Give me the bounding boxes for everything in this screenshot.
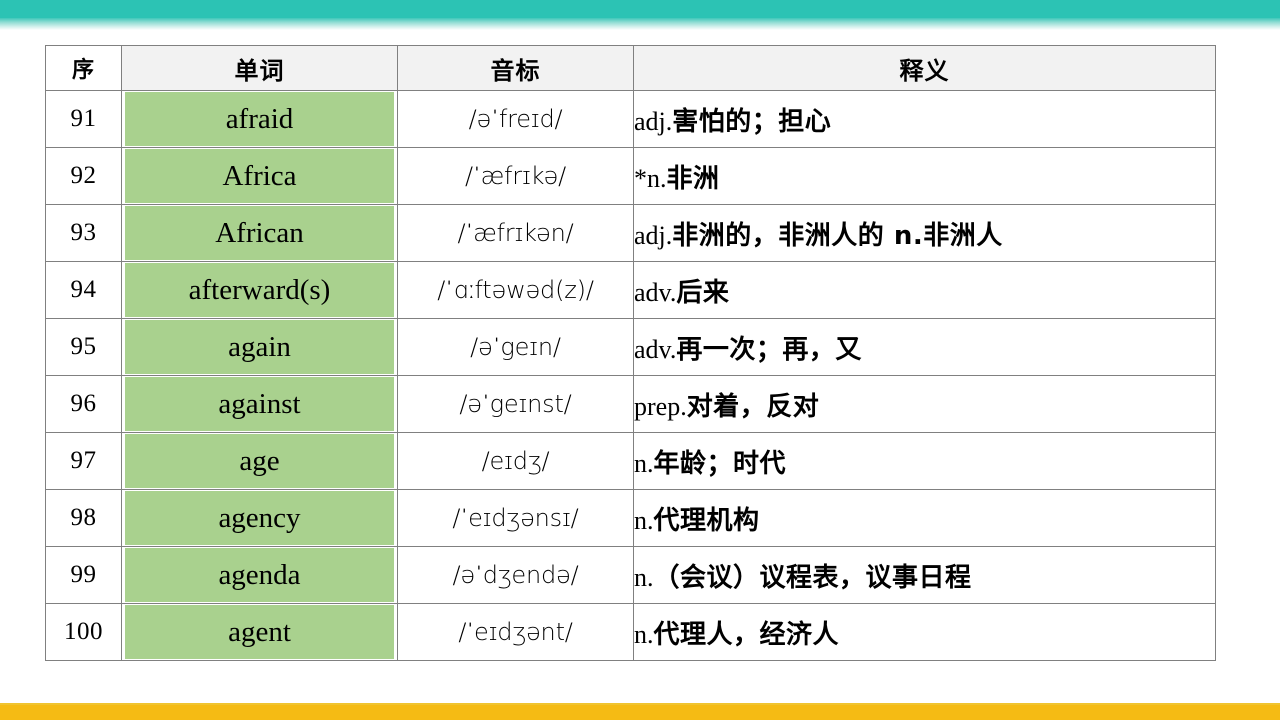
- table-row: 99agenda/əˈdʒendə/n.（会议）议程表，议事日程: [46, 547, 1216, 604]
- word-highlight: again: [125, 320, 394, 374]
- cell-word: African: [122, 205, 398, 262]
- table-row: 100agent/ˈeɪdʒənt/n.代理人，经济人: [46, 604, 1216, 661]
- cell-index: 100: [46, 604, 122, 661]
- vocabulary-table-container: 序 单词 音标 释义 91afraid/əˈfreɪd/adj.害怕的；担心92…: [45, 45, 1215, 661]
- cell-phonetic: /əˈdʒendə/: [398, 547, 634, 604]
- cell-word: agency: [122, 490, 398, 547]
- definition-text: 害怕的；担心: [672, 107, 831, 137]
- table-row: 93African/ˈæfrɪkən/adj.非洲的，非洲人的 n.非洲人: [46, 205, 1216, 262]
- cell-definition: n.年龄；时代: [634, 433, 1216, 490]
- cell-phonetic: /ˈeɪdʒənsɪ/: [398, 490, 634, 547]
- table-row: 92Africa/ˈæfrɪkə/*n.非洲: [46, 148, 1216, 205]
- part-of-speech: n.: [634, 563, 654, 592]
- part-of-speech: adj.: [634, 221, 672, 250]
- table-row: 96against/əˈgeɪnst/prep.对着，反对: [46, 376, 1216, 433]
- cell-index: 98: [46, 490, 122, 547]
- cell-definition: adj.非洲的，非洲人的 n.非洲人: [634, 205, 1216, 262]
- definition-text: 后来: [676, 278, 729, 308]
- table-row: 97age/eɪdʒ/n.年龄；时代: [46, 433, 1216, 490]
- column-header-phonetic: 音标: [398, 46, 634, 91]
- cell-word: Africa: [122, 148, 398, 205]
- definition-text: 代理机构: [654, 506, 760, 536]
- cell-phonetic: /əˈgeɪn/: [398, 319, 634, 376]
- cell-word: afraid: [122, 91, 398, 148]
- part-of-speech: n.: [634, 620, 654, 649]
- definition-text: 非洲的，非洲人的 n.非洲人: [672, 221, 1002, 251]
- part-of-speech: *n.: [634, 164, 667, 193]
- cell-definition: n.（会议）议程表，议事日程: [634, 547, 1216, 604]
- definition-text: 代理人，经济人: [654, 620, 840, 650]
- cell-index: 95: [46, 319, 122, 376]
- cell-definition: prep.对着，反对: [634, 376, 1216, 433]
- word-highlight: age: [125, 434, 394, 488]
- cell-index: 92: [46, 148, 122, 205]
- cell-definition: *n.非洲: [634, 148, 1216, 205]
- cell-index: 99: [46, 547, 122, 604]
- definition-text: 对着，反对: [687, 392, 820, 422]
- cell-definition: adv.再一次；再，又: [634, 319, 1216, 376]
- cell-phonetic: /əˈgeɪnst/: [398, 376, 634, 433]
- top-accent-bar: [0, 0, 1280, 18]
- bottom-accent-bar: [0, 705, 1280, 720]
- table-row: 98agency/ˈeɪdʒənsɪ/n.代理机构: [46, 490, 1216, 547]
- cell-definition: adv.后来: [634, 262, 1216, 319]
- cell-word: again: [122, 319, 398, 376]
- cell-definition: n.代理机构: [634, 490, 1216, 547]
- word-highlight: agent: [125, 605, 394, 659]
- word-highlight: Africa: [125, 149, 394, 203]
- definition-text: 再一次；再，又: [676, 335, 862, 365]
- part-of-speech: prep.: [634, 392, 687, 421]
- cell-phonetic: /ˈeɪdʒənt/: [398, 604, 634, 661]
- part-of-speech: adj.: [634, 107, 672, 136]
- part-of-speech: n.: [634, 449, 654, 478]
- part-of-speech: adv.: [634, 278, 676, 307]
- cell-word: age: [122, 433, 398, 490]
- cell-phonetic: /ˈæfrɪkən/: [398, 205, 634, 262]
- word-highlight: agenda: [125, 548, 394, 602]
- word-highlight: afraid: [125, 92, 394, 146]
- vocabulary-table: 序 单词 音标 释义 91afraid/əˈfreɪd/adj.害怕的；担心92…: [45, 45, 1216, 661]
- cell-word: against: [122, 376, 398, 433]
- table-row: 95again/əˈgeɪn/adv.再一次；再，又: [46, 319, 1216, 376]
- column-header-definition: 释义: [634, 46, 1216, 91]
- cell-index: 91: [46, 91, 122, 148]
- cell-phonetic: /əˈfreɪd/: [398, 91, 634, 148]
- cell-index: 97: [46, 433, 122, 490]
- cell-index: 93: [46, 205, 122, 262]
- cell-phonetic: /ˈɑːftəwəd(z)/: [398, 262, 634, 319]
- word-highlight: African: [125, 206, 394, 260]
- table-row: 91afraid/əˈfreɪd/adj.害怕的；担心: [46, 91, 1216, 148]
- column-header-word: 单词: [122, 46, 398, 91]
- cell-word: agenda: [122, 547, 398, 604]
- definition-text: 年龄；时代: [654, 449, 787, 479]
- cell-word: afterward(s): [122, 262, 398, 319]
- word-highlight: agency: [125, 491, 394, 545]
- definition-text: 非洲: [667, 164, 720, 194]
- cell-word: agent: [122, 604, 398, 661]
- top-accent-bar-fade: [0, 18, 1280, 30]
- table-header-row: 序 单词 音标 释义: [46, 46, 1216, 91]
- cell-phonetic: /eɪdʒ/: [398, 433, 634, 490]
- word-highlight: against: [125, 377, 394, 431]
- part-of-speech: adv.: [634, 335, 676, 364]
- cell-definition: n.代理人，经济人: [634, 604, 1216, 661]
- cell-index: 94: [46, 262, 122, 319]
- column-header-index: 序: [46, 46, 122, 91]
- part-of-speech: n.: [634, 506, 654, 535]
- definition-text: （会议）议程表，议事日程: [654, 563, 972, 593]
- cell-definition: adj.害怕的；担心: [634, 91, 1216, 148]
- cell-phonetic: /ˈæfrɪkə/: [398, 148, 634, 205]
- cell-index: 96: [46, 376, 122, 433]
- word-highlight: afterward(s): [125, 263, 394, 317]
- table-row: 94afterward(s)/ˈɑːftəwəd(z)/adv.后来: [46, 262, 1216, 319]
